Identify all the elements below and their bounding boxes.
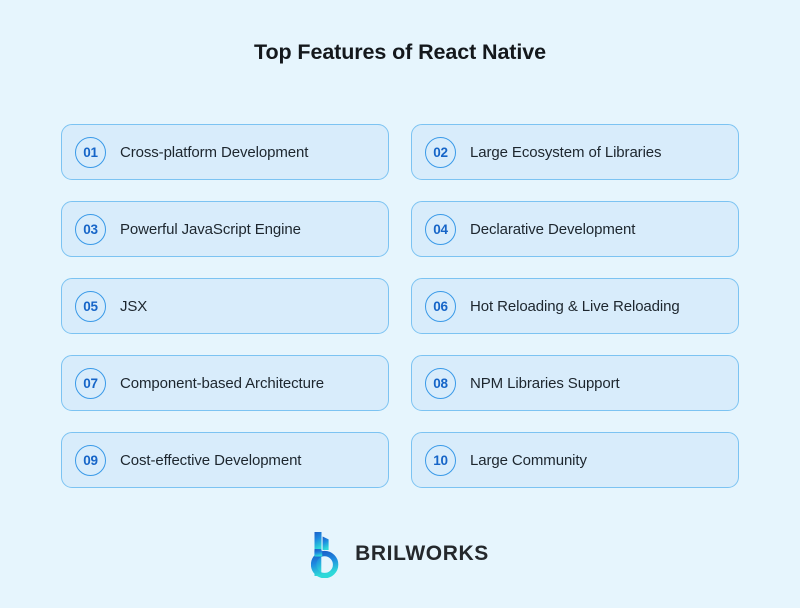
feature-card: 06 Hot Reloading & Live Reloading — [411, 278, 739, 334]
feature-number-badge: 07 — [75, 368, 106, 399]
feature-number-badge: 02 — [425, 137, 456, 168]
feature-number-badge: 01 — [75, 137, 106, 168]
feature-label: Large Community — [470, 452, 587, 469]
feature-card: 09 Cost-effective Development — [61, 432, 389, 488]
feature-label: Cost-effective Development — [120, 452, 301, 469]
feature-number-badge: 03 — [75, 214, 106, 245]
feature-card: 07 Component-based Architecture — [61, 355, 389, 411]
infographic-page: Top Features of React Native 01 Cross-pl… — [0, 0, 800, 608]
feature-label: Large Ecosystem of Libraries — [470, 144, 661, 161]
feature-number-badge: 04 — [425, 214, 456, 245]
feature-label: Component-based Architecture — [120, 375, 324, 392]
feature-number-badge: 10 — [425, 445, 456, 476]
footer-branding: BRILWORKS — [0, 530, 800, 578]
feature-label: Hot Reloading & Live Reloading — [470, 298, 680, 315]
feature-number-badge: 05 — [75, 291, 106, 322]
feature-card: 08 NPM Libraries Support — [411, 355, 739, 411]
features-grid: 01 Cross-platform Development 02 Large E… — [61, 124, 739, 488]
feature-label: Cross-platform Development — [120, 144, 308, 161]
feature-number-badge: 09 — [75, 445, 106, 476]
brand-name: BRILWORKS — [355, 542, 489, 566]
brilworks-logo-icon — [311, 530, 345, 578]
feature-label: NPM Libraries Support — [470, 375, 620, 392]
feature-card: 10 Large Community — [411, 432, 739, 488]
feature-card: 02 Large Ecosystem of Libraries — [411, 124, 739, 180]
feature-card: 04 Declarative Development — [411, 201, 739, 257]
feature-card: 05 JSX — [61, 278, 389, 334]
feature-card: 01 Cross-platform Development — [61, 124, 389, 180]
feature-label: JSX — [120, 298, 147, 315]
feature-label: Declarative Development — [470, 221, 635, 238]
feature-number-badge: 06 — [425, 291, 456, 322]
feature-card: 03 Powerful JavaScript Engine — [61, 201, 389, 257]
page-title: Top Features of React Native — [0, 40, 800, 65]
feature-number-badge: 08 — [425, 368, 456, 399]
feature-label: Powerful JavaScript Engine — [120, 221, 301, 238]
